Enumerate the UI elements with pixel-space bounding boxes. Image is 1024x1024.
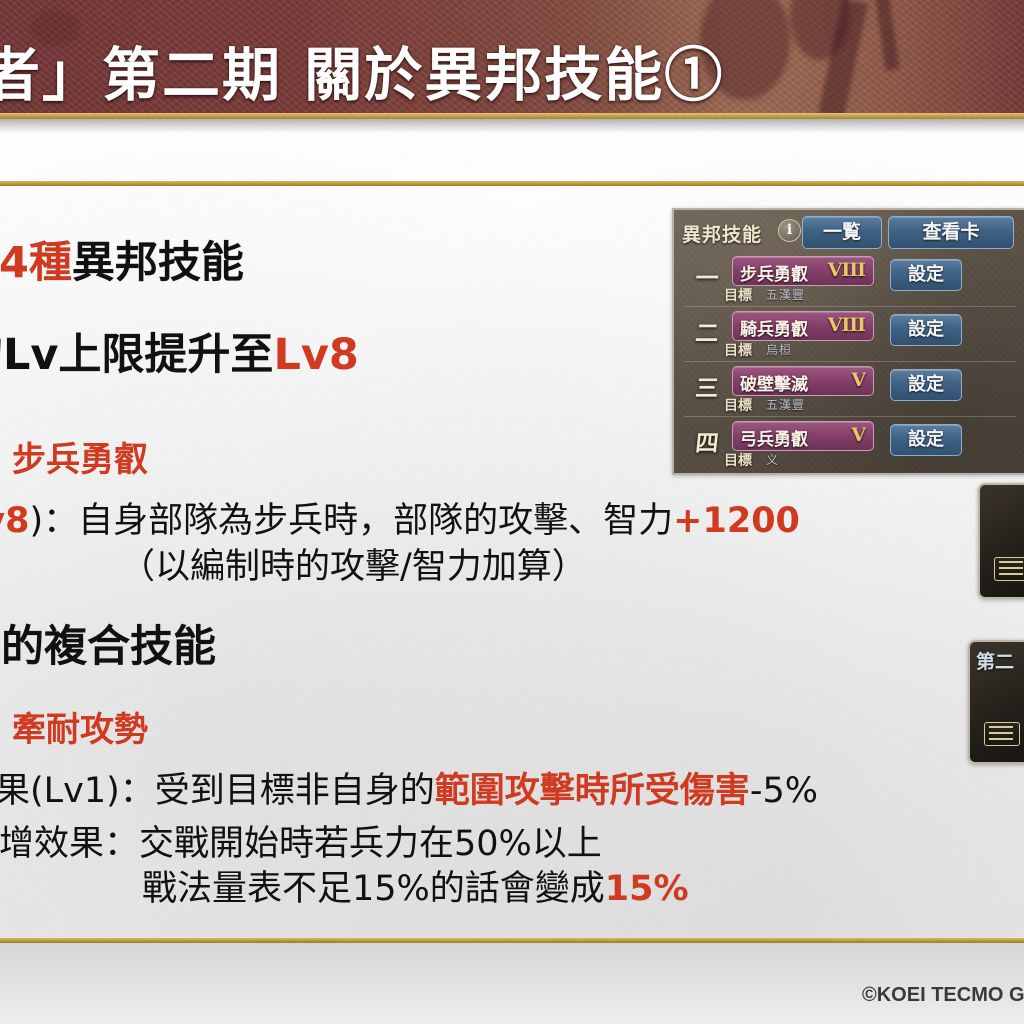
combo-new-effect-line-2: 戰法量表不足15%的話會變成15%	[142, 860, 689, 911]
skill-level: VIII	[828, 314, 865, 336]
skill-name: 破壁擊滅	[740, 370, 808, 395]
target-label: 目標	[724, 395, 752, 415]
line4-highlight: Lv8	[0, 501, 29, 541]
skill-level: V	[851, 424, 865, 446]
row-index: 三	[688, 372, 726, 406]
skill-badge[interactable]: 破壁擊滅 V	[732, 366, 874, 396]
line4-highlight-2: +1200	[673, 501, 800, 541]
skill-badge[interactable]: 步兵勇叡 VIII	[732, 256, 874, 286]
line2-highlight: Lv8	[273, 330, 358, 380]
skill-badge[interactable]: 弓兵勇叡 V	[732, 421, 874, 451]
target-label: 目標	[724, 340, 752, 360]
slide-title-bar: 者」第二期 關於異邦技能①	[0, 0, 1024, 117]
skill-level: V	[851, 369, 865, 391]
clipped-panel-title: 第二	[976, 647, 1014, 674]
set-button[interactable]: 設定	[890, 259, 962, 291]
combo-skill-name-line: ：牽耐攻勢	[0, 702, 148, 751]
line10-highlight: 15%	[605, 869, 689, 909]
title-drop-shadow	[0, 119, 1024, 133]
table-row[interactable]: 三 破壁擊滅 V 目標 五漢豐 設定	[684, 361, 1016, 416]
line4-post: )：自身部隊為步兵時，部隊的攻擊、智力	[29, 501, 673, 541]
skill-name: 步兵勇叡	[740, 260, 808, 285]
line8-highlight: 範圍攻擊時所受傷害	[435, 771, 750, 811]
view-card-button[interactable]: 查看卡	[888, 216, 1014, 249]
skill-name-line: ：步兵勇叡	[0, 432, 148, 481]
line1-highlight: 4種	[0, 238, 72, 288]
target-value: 五漢豐	[766, 396, 805, 413]
row-index: 四	[688, 427, 726, 461]
game-panel-header: 異邦技能 i 一覧 查看卡	[674, 210, 1024, 252]
bullet-line-2: 的Lv上限提升至Lv8	[0, 320, 359, 382]
target-value: 烏桓	[766, 341, 792, 358]
line3-highlight: 步兵勇叡	[12, 440, 148, 480]
clipped-game-panel-2: 第二	[968, 640, 1024, 764]
line3-pre: ：	[0, 440, 12, 480]
table-row[interactable]: 二 騎兵勇叡 VIII 目標 烏桓 設定	[684, 306, 1016, 361]
skill-level: VIII	[828, 259, 865, 281]
skill-row-list: 一 步兵勇叡 VIII 目標 五漢豐 設定 二 騎兵勇叡 VIII 目標 烏桓 …	[684, 252, 1016, 470]
row-index: 一	[688, 262, 726, 296]
combo-effect-line: 效果(Lv1)：受到目標非自身的範圍攻擊時所受傷害-5%	[0, 762, 818, 813]
line8-post: -5%	[750, 771, 818, 811]
skill-name: 騎兵勇叡	[740, 315, 808, 340]
line7-highlight: 牽耐攻勢	[12, 710, 148, 750]
clipped-game-panel-1	[978, 483, 1024, 599]
combo-new-effect-line: 新增效果：交戰開始時若兵力在50%以上	[0, 815, 602, 866]
set-button[interactable]: 設定	[890, 424, 962, 456]
skill-name: 弓兵勇叡	[740, 425, 808, 450]
info-icon[interactable]: i	[778, 219, 801, 242]
page-title: 者」第二期 關於異邦技能①	[0, 28, 724, 112]
bullet-line-1: 定4種異邦技能	[0, 228, 244, 290]
list-icon	[984, 722, 1020, 746]
target-label: 目標	[724, 285, 752, 305]
line10-pre: 戰法量表不足15%的話會變成	[142, 869, 605, 909]
game-screenshot-panel: 異邦技能 i 一覧 查看卡 一 步兵勇叡 VIII 目標 五漢豐 設定 二 騎兵…	[672, 208, 1024, 475]
game-panel-title: 異邦技能	[682, 220, 762, 247]
list-icon	[994, 557, 1024, 581]
line7-pre: ：	[0, 710, 12, 750]
slide-root: 者」第二期 關於異邦技能① 定4種異邦技能 的Lv上限提升至Lv8 ：步兵勇叡 …	[0, 0, 1024, 1024]
target-value: 五漢豐	[766, 286, 805, 303]
table-row[interactable]: 一 步兵勇叡 VIII 目標 五漢豐 設定	[684, 252, 1016, 306]
bullet-line-3: 新的複合技能	[0, 612, 216, 674]
target-label: 目標	[724, 450, 752, 470]
skill-effect-note: （以編制時的攻擊/智力加算）	[120, 538, 587, 589]
line1-post: 異邦技能	[72, 238, 244, 288]
row-index: 二	[688, 317, 726, 351]
skill-effect-line: Lv8)：自身部隊為步兵時，部隊的攻擊、智力+1200	[0, 492, 800, 543]
divider-top	[0, 181, 1024, 186]
line8-pre: 效果(Lv1)：受到目標非自身的	[0, 771, 435, 811]
line2-pre: 的Lv上限提升至	[0, 330, 273, 380]
skill-badge[interactable]: 騎兵勇叡 VIII	[732, 311, 874, 341]
set-button[interactable]: 設定	[890, 314, 962, 346]
target-value: 义	[766, 451, 779, 468]
table-row[interactable]: 四 弓兵勇叡 V 目標 义 設定	[684, 416, 1016, 471]
copyright-notice: ©KOEI TECMO GAM	[862, 984, 1024, 1007]
set-button[interactable]: 設定	[890, 369, 962, 401]
list-button[interactable]: 一覧	[802, 216, 882, 249]
